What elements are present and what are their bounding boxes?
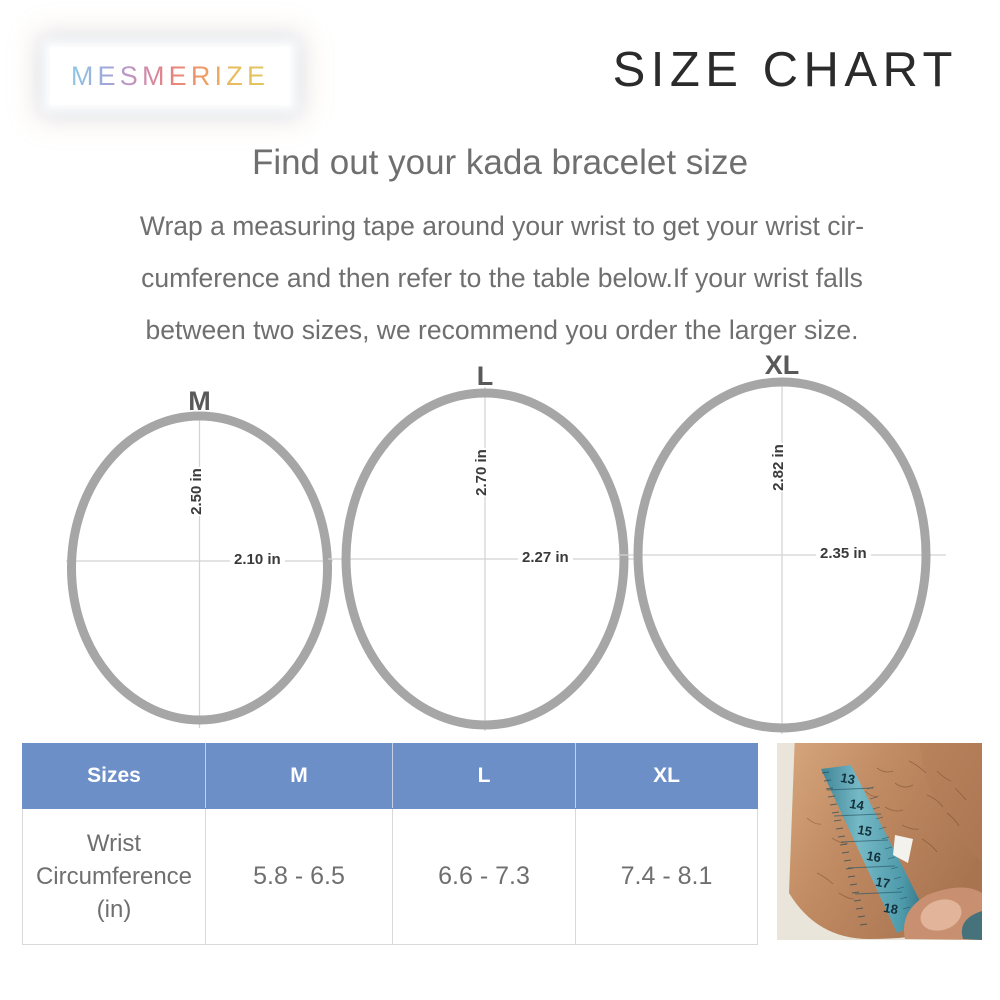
- row-label-line-1: Wrist: [24, 827, 204, 860]
- oval-height-label-xl: 2.82 in: [767, 443, 790, 492]
- brand-wordmark: MESMERIZE: [71, 61, 269, 92]
- row-label-line-3: (in): [24, 893, 204, 926]
- table-header-row: Sizes M L XL: [23, 744, 758, 809]
- oval-shape-xl: [632, 352, 932, 734]
- size-table: Sizes M L XL Wrist Circumference (in) 5.…: [22, 743, 758, 945]
- table-header-xl: XL: [576, 744, 758, 809]
- oval-shape-l: [340, 363, 630, 731]
- table-header-l: L: [393, 744, 576, 809]
- table-header-sizes: Sizes: [23, 744, 206, 809]
- oval-shape-m: [66, 388, 333, 728]
- intro-line-3: between two sizes, we recommend you orde…: [48, 304, 956, 356]
- page-title: SIZE CHART: [613, 42, 958, 98]
- oval-width-label-xl: 2.35 in: [816, 544, 871, 563]
- tape-number-16: 16: [865, 848, 882, 865]
- row-label-wrist-circumference: Wrist Circumference (in): [23, 809, 206, 945]
- oval-width-label-l: 2.27 in: [518, 548, 573, 567]
- tape-number-15: 15: [856, 822, 873, 839]
- intro-line-1: Wrap a measuring tape around your wrist …: [48, 200, 956, 252]
- oval-diagram-xl: XL 2.35 in 2.82 in: [632, 352, 932, 734]
- cell-wrist-circumference-xl: 7.4 - 8.1: [576, 809, 758, 945]
- cell-wrist-circumference-m: 5.8 - 6.5: [206, 809, 393, 945]
- brand-logo: MESMERIZE: [50, 47, 290, 105]
- table-header-m: M: [206, 744, 393, 809]
- tape-number-17: 17: [874, 874, 891, 891]
- intro-line-2: cumference and then refer to the table b…: [48, 252, 956, 304]
- subtitle: Find out your kada bracelet size: [0, 143, 1000, 183]
- tape-number-18: 18: [882, 900, 899, 917]
- oval-width-label-m: 2.10 in: [230, 550, 285, 569]
- size-chart-page: MESMERIZE SIZE CHART Find out your kada …: [0, 0, 1000, 1000]
- row-label-line-2: Circumference: [24, 860, 204, 893]
- oval-diagram-m: M 2.10 in 2.50 in: [66, 388, 333, 728]
- intro-paragraph: Wrap a measuring tape around your wrist …: [48, 200, 956, 356]
- wrist-photo-illustration: 13 14 15 16 17 18: [777, 743, 982, 940]
- tape-number-13: 13: [839, 770, 856, 787]
- table-row: Wrist Circumference (in) 5.8 - 6.5 6.6 -…: [23, 809, 758, 945]
- wrist-measuring-photo: 13 14 15 16 17 18: [777, 743, 982, 940]
- oval-height-label-l: 2.70 in: [470, 448, 493, 497]
- cell-wrist-circumference-l: 6.6 - 7.3: [393, 809, 576, 945]
- oval-height-label-m: 2.50 in: [185, 467, 208, 516]
- oval-diagram-l: L 2.27 in 2.70 in: [340, 363, 630, 731]
